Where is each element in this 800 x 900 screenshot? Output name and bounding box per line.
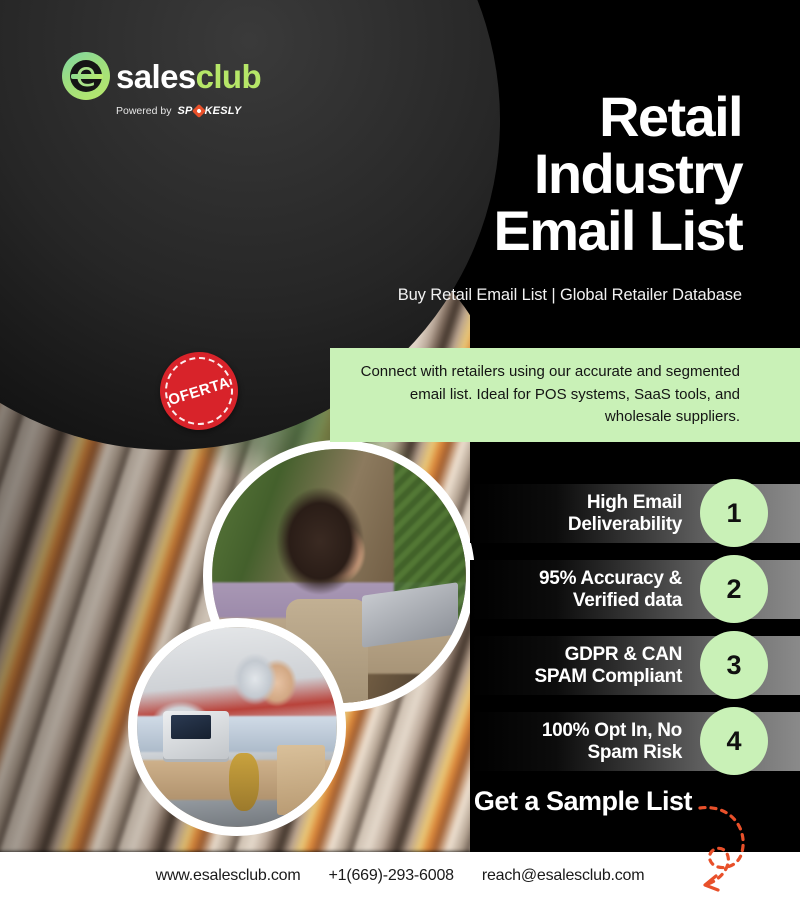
feature-label-line-1: 95% Accuracy & bbox=[462, 567, 682, 589]
feature-number-badge: 3 bbox=[700, 631, 768, 699]
powered-by-label: Powered by bbox=[116, 105, 171, 117]
powered-by-line: Powered by SP KESLY bbox=[116, 105, 262, 117]
feature-row[interactable]: 100% Opt In, No Spam Risk 4 bbox=[470, 712, 800, 771]
description-text: Connect with retailers using our accurat… bbox=[360, 361, 800, 429]
feature-row[interactable]: High Email Deliverability 1 bbox=[470, 484, 800, 543]
feature-row[interactable]: GDPR & CAN SPAM Compliant 3 bbox=[470, 636, 800, 695]
checkout-photo-screen bbox=[171, 715, 211, 739]
headline-line-1: Retail bbox=[312, 88, 742, 145]
checkout-photo-paper-bag bbox=[277, 745, 325, 815]
feature-label-line-2: Verified data bbox=[462, 590, 682, 612]
page-title: Retail Industry Email List bbox=[312, 88, 742, 259]
customers-at-checkout-photo bbox=[128, 618, 346, 836]
feature-label-line-1: High Email bbox=[462, 491, 682, 513]
logo-row: e salesclub bbox=[62, 52, 262, 100]
feature-label: GDPR & CAN SPAM Compliant bbox=[462, 643, 682, 687]
footer-email[interactable]: reach@esalesclub.com bbox=[482, 867, 645, 885]
feature-number-badge: 1 bbox=[700, 479, 768, 547]
poster-canvas: OFERTA e salesclub Powered by SP bbox=[0, 0, 800, 900]
page-subtitle: Buy Retail Email List | Global Retailer … bbox=[262, 286, 742, 305]
checkout-photo-pineapple bbox=[229, 753, 259, 811]
e-circle-mark-icon: e bbox=[62, 52, 110, 100]
spokesly-part1: SP bbox=[177, 105, 192, 117]
footer-website[interactable]: www.esalesclub.com bbox=[156, 867, 301, 885]
feature-label-line-2: Spam Risk bbox=[462, 742, 682, 764]
spokesly-part2: KESLY bbox=[205, 105, 242, 117]
dashed-curved-arrow-icon bbox=[686, 800, 776, 896]
cta-text[interactable]: Get a Sample List bbox=[474, 786, 692, 817]
brand-logo[interactable]: e salesclub Powered by SP KESLY bbox=[62, 52, 262, 114]
headline-line-2: Industry bbox=[312, 145, 742, 202]
headline-line-3: Email List bbox=[312, 202, 742, 259]
feature-label-line-1: GDPR & CAN bbox=[462, 643, 682, 665]
wordmark-sales: sales bbox=[116, 58, 196, 95]
e-crossbar bbox=[71, 74, 103, 79]
feature-label: 95% Accuracy & Verified data bbox=[462, 567, 682, 611]
feature-label-line-2: Deliverability bbox=[462, 514, 682, 536]
logo-wordmark: salesclub bbox=[116, 60, 261, 93]
spokesly-wordmark: SP KESLY bbox=[177, 105, 241, 117]
footer-phone[interactable]: +1(669)-293-6008 bbox=[329, 867, 454, 885]
feature-number-badge: 4 bbox=[700, 707, 768, 775]
wordmark-club: club bbox=[196, 58, 261, 95]
feature-list: High Email Deliverability 1 95% Accuracy… bbox=[470, 484, 800, 770]
feature-label-line-2: SPAM Compliant bbox=[462, 666, 682, 688]
feature-row[interactable]: 95% Accuracy & Verified data 2 bbox=[470, 560, 800, 619]
feature-label-line-1: 100% Opt In, No bbox=[462, 719, 682, 741]
footer-contact-bar: www.esalesclub.com +1(669)-293-6008 reac… bbox=[0, 852, 800, 900]
feature-label: High Email Deliverability bbox=[462, 491, 682, 535]
description-panel: Connect with retailers using our accurat… bbox=[330, 348, 800, 442]
feature-label: 100% Opt In, No Spam Risk bbox=[462, 719, 682, 763]
feature-number-badge: 2 bbox=[700, 555, 768, 623]
spoke-diamond-icon bbox=[191, 104, 205, 118]
